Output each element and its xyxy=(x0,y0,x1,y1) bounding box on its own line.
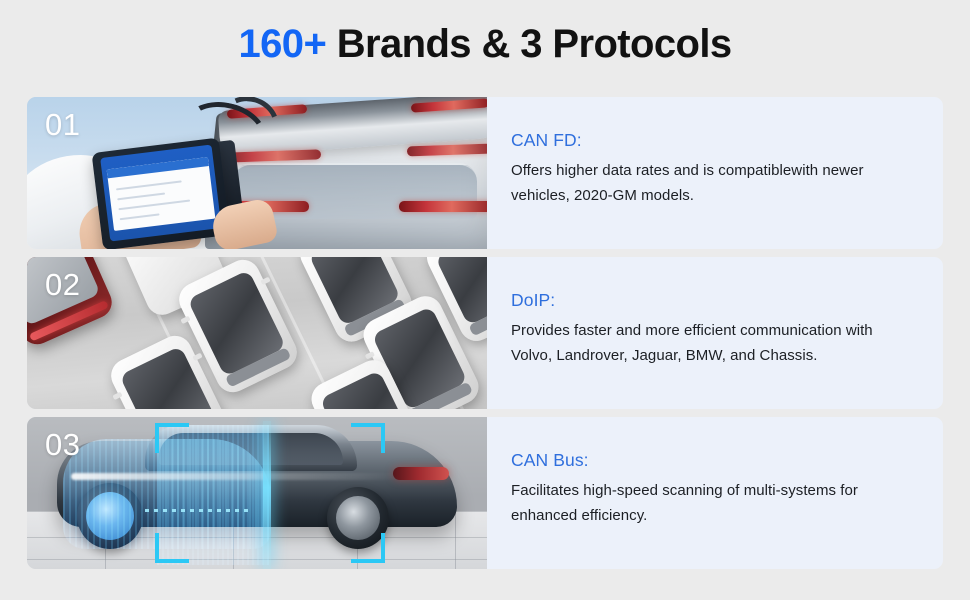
page-title-rest: Brands & 3 Protocols xyxy=(326,22,731,66)
protocol-row: 03 CAN Bus: Facilitates high-speed scann… xyxy=(27,417,943,569)
protocol-text-panel: DoIP: Provides faster and more efficient… xyxy=(487,257,943,409)
floor-tile-line xyxy=(455,512,456,569)
page-title: 160+ Brands & 3 Protocols xyxy=(0,18,970,70)
step-number-badge: 03 xyxy=(45,425,80,465)
tablet-screen xyxy=(107,157,216,231)
scan-beam xyxy=(263,421,271,569)
scan-bracket-icon xyxy=(351,423,385,453)
protocol-description: Provides faster and more efficient commu… xyxy=(511,319,915,368)
protocol-row: 02 DoIP: Provides faster and more effici… xyxy=(27,257,943,409)
promo-banner: 160+ Brands & 3 Protocols xyxy=(0,0,970,600)
scan-bracket-icon xyxy=(155,423,189,453)
protocol-text-panel: CAN Bus: Facilitates high-speed scanning… xyxy=(487,417,943,569)
protocol-row: 01 CAN FD: Offers higher data rates and … xyxy=(27,97,943,249)
scan-data-trace xyxy=(145,509,249,512)
protocol-heading: DoIP: xyxy=(511,288,915,312)
protocol-heading: CAN Bus: xyxy=(511,448,915,472)
protocol-description: Facilitates high-speed scanning of multi… xyxy=(511,479,915,528)
tablet-bezel xyxy=(100,144,221,241)
diagnostic-tablet xyxy=(92,138,231,249)
screen-text-line xyxy=(117,193,165,201)
step-number-badge: 02 xyxy=(45,265,80,305)
row-image-doip: 02 xyxy=(27,257,487,409)
screen-text-line xyxy=(120,213,160,220)
screen-text-line xyxy=(116,180,182,190)
scan-bracket-icon xyxy=(351,533,385,563)
page-title-accent: 160+ xyxy=(239,22,327,66)
step-number-badge: 01 xyxy=(45,105,80,145)
floor-tile-line xyxy=(27,559,487,560)
page-title-text: 160+ Brands & 3 Protocols xyxy=(239,22,732,66)
taillight xyxy=(393,467,449,480)
taillight xyxy=(399,201,487,212)
protocol-heading: CAN FD: xyxy=(511,128,915,152)
protocol-row-list: 01 CAN FD: Offers higher data rates and … xyxy=(27,97,943,577)
protocol-text-panel: CAN FD: Offers higher data rates and is … xyxy=(487,97,943,249)
scan-bracket-icon xyxy=(155,533,189,563)
screen-text-line xyxy=(118,200,190,211)
protocol-description: Offers higher data rates and is compatib… xyxy=(511,159,915,208)
row-image-can-fd: 01 xyxy=(27,97,487,249)
row-image-can-bus: 03 xyxy=(27,417,487,569)
